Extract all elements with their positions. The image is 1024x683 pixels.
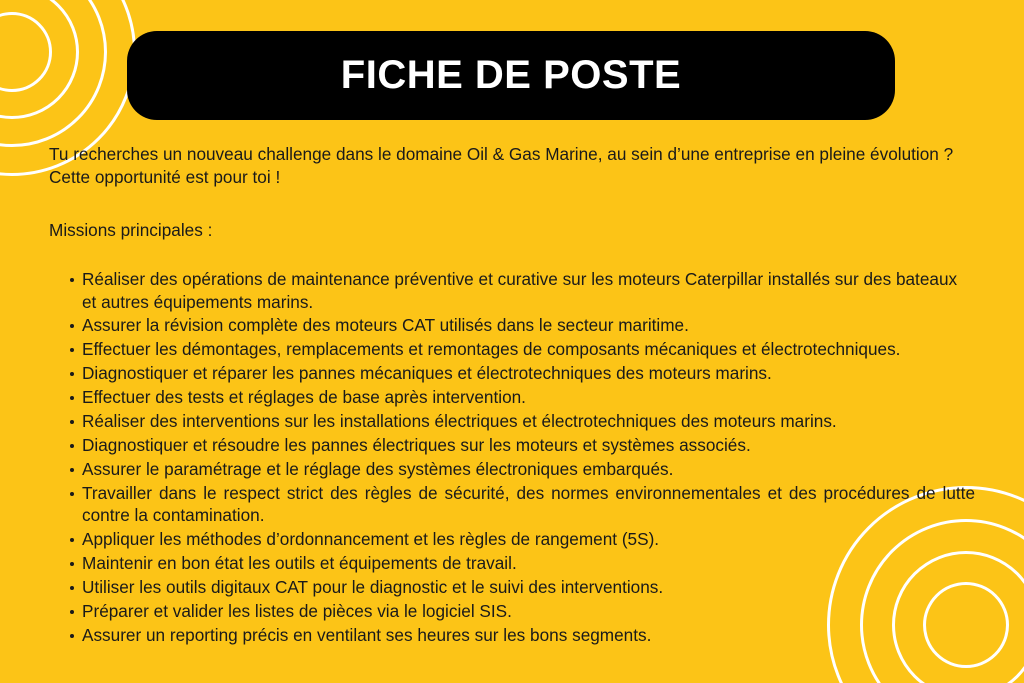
list-item-label: Assurer le paramétrage et le réglage des…: [82, 459, 673, 479]
list-item: Diagnostiquer et réparer les pannes méca…: [49, 362, 975, 385]
arc-ring: [0, 12, 52, 92]
list-item-label: Maintenir en bon état les outils et équi…: [82, 553, 517, 573]
bullet-dot-icon: [70, 278, 74, 282]
list-item-label: Réaliser des opérations de maintenance p…: [82, 269, 957, 312]
list-item: Assurer le paramétrage et le réglage des…: [49, 458, 975, 481]
list-item-label: Effectuer les démontages, remplacements …: [82, 339, 900, 359]
bullet-dot-icon: [70, 586, 74, 590]
bullet-dot-icon: [70, 348, 74, 352]
list-item-label: Appliquer les méthodes d’ordonnancement …: [82, 529, 659, 549]
list-item-label: Effectuer des tests et réglages de base …: [82, 387, 526, 407]
list-item: Effectuer les démontages, remplacements …: [49, 338, 975, 361]
page-title: FICHE DE POSTE: [341, 53, 681, 98]
list-item-label: Diagnostiquer et résoudre les pannes éle…: [82, 435, 751, 455]
bullet-dot-icon: [70, 444, 74, 448]
list-item-label: Assurer la révision complète des moteurs…: [82, 315, 689, 335]
bullet-dot-icon: [70, 492, 74, 496]
list-item: Réaliser des interventions sur les insta…: [49, 410, 975, 433]
list-item: Appliquer les méthodes d’ordonnancement …: [49, 528, 975, 551]
missions-bullet-list: Réaliser des opérations de maintenance p…: [49, 242, 975, 647]
list-item-label: Réaliser des interventions sur les insta…: [82, 411, 837, 431]
section-label-missions: Missions principales :: [49, 189, 975, 242]
bullet-dot-icon: [70, 610, 74, 614]
list-item-label: Utiliser les outils digitaux CAT pour le…: [82, 577, 663, 597]
list-item: Assurer un reporting précis en ventilant…: [49, 624, 975, 647]
list-item: Préparer et valider les listes de pièces…: [49, 600, 975, 623]
list-item: Utiliser les outils digitaux CAT pour le…: [49, 576, 975, 599]
slide-canvas: FICHE DE POSTE Tu recherches un nouveau …: [0, 0, 1024, 683]
list-item: Effectuer des tests et réglages de base …: [49, 386, 975, 409]
list-item: Réaliser des opérations de maintenance p…: [49, 268, 975, 314]
list-item-label: Travailler dans le respect strict des rè…: [82, 483, 975, 526]
list-item-label: Préparer et valider les listes de pièces…: [82, 601, 512, 621]
bullet-dot-icon: [70, 396, 74, 400]
title-banner: FICHE DE POSTE: [127, 31, 895, 120]
list-item-label: Assurer un reporting précis en ventilant…: [82, 625, 651, 645]
bullet-dot-icon: [70, 324, 74, 328]
bullet-dot-icon: [70, 562, 74, 566]
list-item: Diagnostiquer et résoudre les pannes éle…: [49, 434, 975, 457]
bullet-dot-icon: [70, 538, 74, 542]
list-item-label: Diagnostiquer et réparer les pannes méca…: [82, 363, 772, 383]
intro-paragraph: Tu recherches un nouveau challenge dans …: [49, 143, 975, 189]
bullet-dot-icon: [70, 634, 74, 638]
list-item: Travailler dans le respect strict des rè…: [49, 482, 975, 528]
bullet-dot-icon: [70, 468, 74, 472]
list-item: Maintenir en bon état les outils et équi…: [49, 552, 975, 575]
arc-ring: [0, 0, 107, 147]
content-area: Tu recherches un nouveau challenge dans …: [49, 143, 975, 648]
bullet-dot-icon: [70, 420, 74, 424]
bullet-dot-icon: [70, 372, 74, 376]
arc-ring: [0, 0, 79, 119]
list-item: Assurer la révision complète des moteurs…: [49, 314, 975, 337]
